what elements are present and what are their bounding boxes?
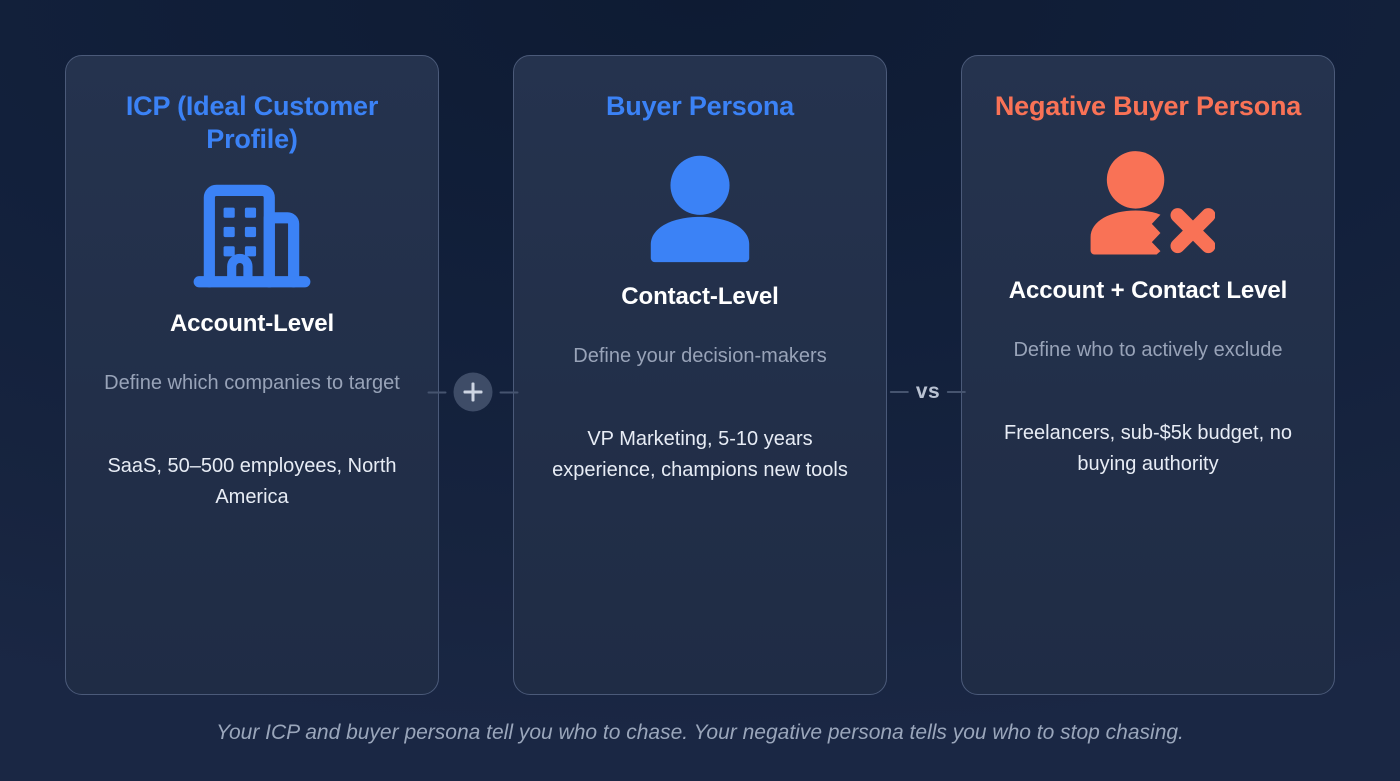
footer-caption: Your ICP and buyer persona tell you who … xyxy=(216,721,1184,745)
card-icp: ICP (Ideal Customer Profile) xyxy=(65,55,439,695)
card-definition: Define your decision-makers xyxy=(573,341,826,372)
card-level: Account + Contact Level xyxy=(1009,277,1287,305)
connector-line-left xyxy=(428,391,447,393)
plus-icon xyxy=(454,373,493,412)
vs-label: vs xyxy=(916,380,940,404)
connector-line-right xyxy=(500,391,519,393)
person-excluded-icon xyxy=(1081,136,1215,267)
card-example: Freelancers, sub-$5k budget, no buying a… xyxy=(988,418,1308,480)
card-definition: Define which companies to target xyxy=(104,368,400,399)
card-definition: Define who to actively exclude xyxy=(1013,335,1282,366)
card-example: SaaS, 50–500 employees, North America xyxy=(92,451,412,513)
card-buyer-persona: Buyer Persona Contact-Level Define your … xyxy=(513,55,887,695)
card-example: VP Marketing, 5-10 years experience, cha… xyxy=(540,424,860,486)
card-icon-wrap xyxy=(637,133,763,283)
card-icon-wrap xyxy=(187,160,317,310)
plus-connector xyxy=(428,373,519,412)
infographic-stage: ICP (Ideal Customer Profile) xyxy=(0,0,1400,781)
card-title: Buyer Persona xyxy=(606,90,794,123)
card-title: Negative Buyer Persona xyxy=(995,90,1301,123)
footer: Your ICP and buyer persona tell you who … xyxy=(0,695,1400,781)
card-icon-wrap xyxy=(1081,127,1215,277)
vs-connector: vs xyxy=(890,380,966,404)
person-icon xyxy=(637,142,763,273)
card-level: Contact-Level xyxy=(621,283,778,311)
cards-row: ICP (Ideal Customer Profile) xyxy=(0,0,1400,695)
connector-line-left xyxy=(890,391,909,393)
office-building-icon xyxy=(187,167,317,302)
card-level: Account-Level xyxy=(170,310,334,338)
connector-line-right xyxy=(947,391,966,393)
card-title: ICP (Ideal Customer Profile) xyxy=(92,90,412,156)
card-negative-buyer-persona: Negative Buyer Persona Account + Contact… xyxy=(961,55,1335,695)
